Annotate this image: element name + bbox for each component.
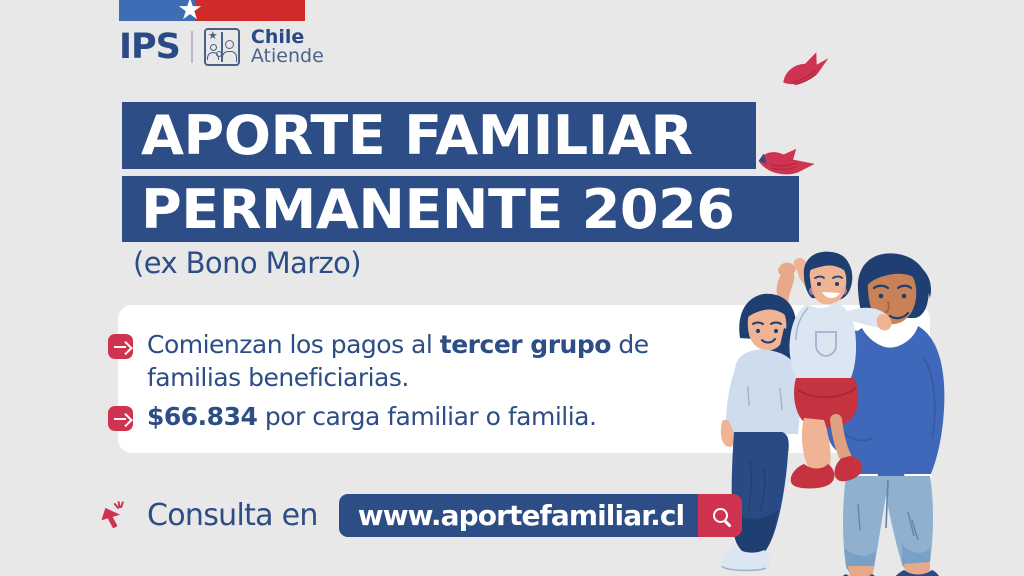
chile-flag-icon: ★ xyxy=(119,0,305,21)
chileatiende-line2: Atiende xyxy=(251,47,324,66)
info-bullet-1-text: Comienzan los pagos al tercer grupo de f… xyxy=(147,328,668,394)
search-icon[interactable] xyxy=(698,494,742,537)
info-bullet-2-text: $66.834 por carga familiar o familia. xyxy=(147,400,596,433)
ips-wordmark: IPS xyxy=(119,30,180,65)
cta-row: Consulta en www.aportefamiliar.cl xyxy=(100,494,742,537)
arrow-right-icon xyxy=(108,406,133,431)
red-bird-icon xyxy=(754,143,821,196)
flag-red-field xyxy=(195,0,305,21)
bullet-2-bold: $66.834 xyxy=(147,402,257,431)
brand-logo-row: IPS ★ Chile Atiende xyxy=(119,28,324,66)
cta-label: Consulta en xyxy=(147,498,318,533)
family-illustration xyxy=(718,228,968,576)
website-button[interactable]: www.aportefamiliar.cl xyxy=(339,494,743,537)
poster-canvas: ★ IPS ★ Chile Atiende APORTE FAMILIAR PE… xyxy=(0,0,1024,576)
headline-line-2-text: PERMANENTE 2026 xyxy=(141,178,734,241)
flag-star-icon: ★ xyxy=(175,0,205,25)
chileatiende-people-icon: ★ xyxy=(204,28,240,66)
bullet-1-bold: tercer grupo xyxy=(440,330,611,359)
bullet-1-before: Comienzan los pagos al xyxy=(147,330,440,359)
info-bullet-1: Comienzan los pagos al tercer grupo de f… xyxy=(108,328,668,394)
headline-subtitle: (ex Bono Marzo) xyxy=(133,246,361,280)
chileatiende-star-icon: ★ xyxy=(208,30,218,42)
arrow-right-icon xyxy=(108,334,133,359)
info-bullet-2: $66.834 por carga familiar o familia. xyxy=(108,400,708,433)
website-url-text[interactable]: www.aportefamiliar.cl xyxy=(339,494,699,537)
headline-line-1-text: APORTE FAMILIAR xyxy=(141,104,693,167)
chileatiende-wordmark: Chile Atiende xyxy=(251,28,324,65)
flag-blue-field: ★ xyxy=(119,0,195,21)
logo-divider xyxy=(191,31,193,63)
click-cursor-icon xyxy=(100,499,134,533)
red-bird-icon xyxy=(773,45,839,104)
headline-line-2: PERMANENTE 2026 xyxy=(122,176,799,242)
headline-line-1: APORTE FAMILIAR xyxy=(122,102,756,169)
bullet-2-after: por carga familiar o familia. xyxy=(257,402,596,431)
